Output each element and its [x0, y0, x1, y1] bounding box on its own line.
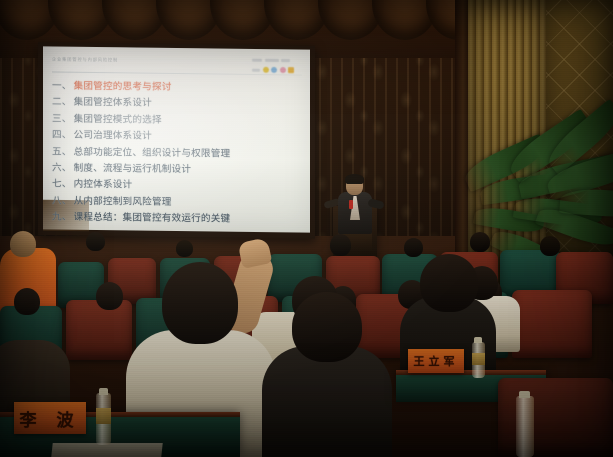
pink-circle-icon[interactable]: [280, 67, 286, 73]
paper-on-table: [51, 443, 162, 457]
water-bottle-right-cap: [474, 337, 482, 343]
slide-agenda-item: 九、课程总结：集团管控有效运行的关键: [52, 210, 304, 229]
slide-item-text: 集团管控模式的选择: [74, 112, 162, 129]
person-foreground-far-right-head: [420, 254, 478, 312]
water-bottle-foreground-cap: [519, 391, 530, 398]
slide-item-text: 集团管控的思考与探讨: [74, 79, 172, 97]
audience-chair: [66, 300, 132, 360]
audience-head: [404, 238, 423, 257]
slide-app-toolbar: [252, 59, 306, 80]
blue-circle-icon[interactable]: [271, 67, 277, 73]
audience-chair: [512, 290, 592, 358]
glasses-icon: [347, 183, 362, 188]
audience-head: [176, 240, 193, 257]
toolbar-row-icons: [252, 67, 294, 74]
person-foreground-right-body: [262, 346, 392, 457]
slide-item-text: 内控体系设计: [74, 177, 133, 194]
water-bottle-right-label: [472, 353, 485, 365]
name-placard-left: 李 波: [14, 402, 86, 434]
audience-head: [470, 232, 490, 252]
slide-item-text: 制度、流程与运行机制设计: [74, 161, 192, 179]
conference-hall-photo: 企业集团管控与内部风险控制 一、集团管控的思考与探讨二、集团管控体系设计三、集团…: [0, 0, 613, 457]
slide-item-text: 公司治理体系设计: [74, 128, 152, 145]
audience-head: [86, 232, 105, 251]
toolbar-chip[interactable]: [252, 59, 262, 62]
audience-head: [540, 236, 560, 256]
audience-head: [14, 288, 40, 315]
name-placard-right: 王立军: [408, 349, 464, 373]
slide-item-text: 课程总结：集团管控有效运行的关键: [74, 210, 231, 228]
slide-item-number: 二、: [52, 95, 72, 112]
slide-item-number: 八、: [52, 193, 72, 210]
orange-square-icon[interactable]: [288, 67, 294, 73]
yellow-circle-icon[interactable]: [263, 67, 269, 73]
audience-head: [330, 234, 351, 256]
slide-item-number: 七、: [52, 177, 72, 194]
slide-item-number: 九、: [52, 210, 72, 227]
slide-item-text: 总部功能定位、组织设计与权限管理: [74, 144, 231, 162]
slide-item-number: 四、: [52, 128, 72, 145]
toolbar-row-top: [252, 59, 290, 62]
audience-head: [96, 282, 123, 310]
water-bottle-left-label: [96, 408, 111, 424]
slide-item-number: 五、: [52, 144, 72, 161]
slide-item-text: 集团管控体系设计: [74, 95, 152, 112]
toolbar-chip[interactable]: [252, 68, 260, 71]
person-orange-robe-head: [10, 231, 36, 257]
slide-item-text: 从内部控制到风险管理: [74, 194, 172, 212]
water-bottle-foreground: [516, 396, 534, 457]
person-foreground-right-head: [292, 292, 362, 362]
toolbar-chip[interactable]: [281, 59, 290, 62]
slide-agenda-list: 一、集团管控的思考与探讨二、集团管控体系设计三、集团管控模式的选择四、公司治理体…: [52, 78, 304, 231]
person-foreground-head: [162, 262, 238, 344]
slide-item-number: 一、: [52, 78, 72, 95]
slide-item-number: 三、: [52, 111, 72, 128]
speaker-tie: [349, 200, 353, 209]
water-bottle-left-cap: [99, 388, 108, 395]
slide-item-number: 六、: [52, 160, 72, 177]
toolbar-chip[interactable]: [265, 59, 279, 62]
slide-header-title: 企业集团管控与内部风险控制: [52, 56, 118, 63]
